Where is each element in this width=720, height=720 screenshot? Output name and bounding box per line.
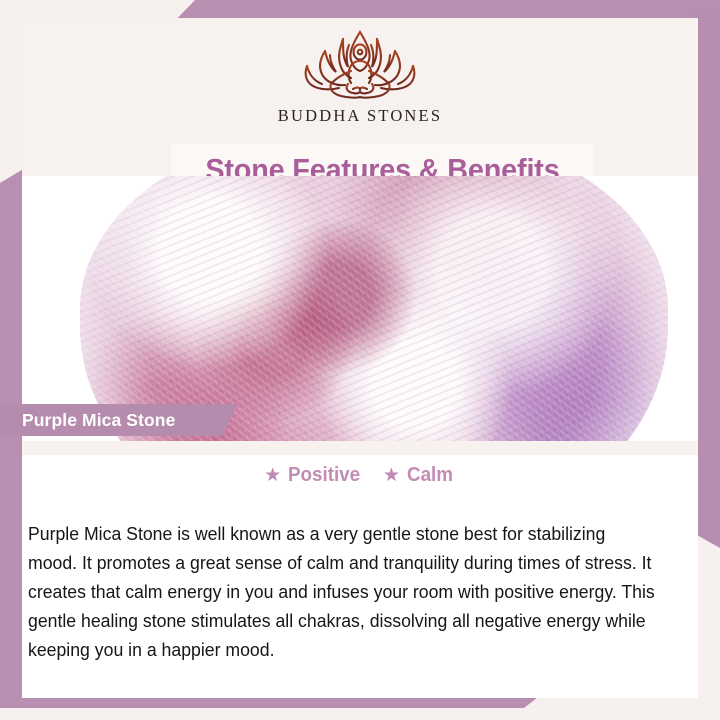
keyword-label: Calm: [407, 464, 453, 487]
stone-name-banner: Purple Mica Stone: [0, 404, 238, 436]
star-icon: ★: [264, 466, 281, 485]
stone-name-label: Purple Mica Stone: [22, 410, 175, 431]
keyword-calm: ★ Calm: [383, 464, 456, 487]
lotus-meditation-icon: [285, 26, 435, 100]
infographic-page: BUDDHA STONES Stone Features & Benefits …: [0, 0, 720, 720]
keyword-positive: ★ Positive: [264, 464, 365, 487]
divider-strip: [22, 441, 698, 455]
product-photo: [22, 176, 698, 441]
header: BUDDHA STONES Stone Features & Benefits: [22, 18, 698, 176]
stone-image: [80, 176, 668, 441]
brand-logo: BUDDHA STONES: [22, 26, 698, 126]
keyword-list: ★ Positive ★ Calm: [22, 464, 698, 487]
brand-name: BUDDHA STONES: [278, 106, 442, 126]
keyword-label: Positive: [288, 464, 360, 487]
star-icon: ★: [383, 466, 400, 485]
description-text: Purple Mica Stone is well known as a ver…: [28, 519, 659, 664]
